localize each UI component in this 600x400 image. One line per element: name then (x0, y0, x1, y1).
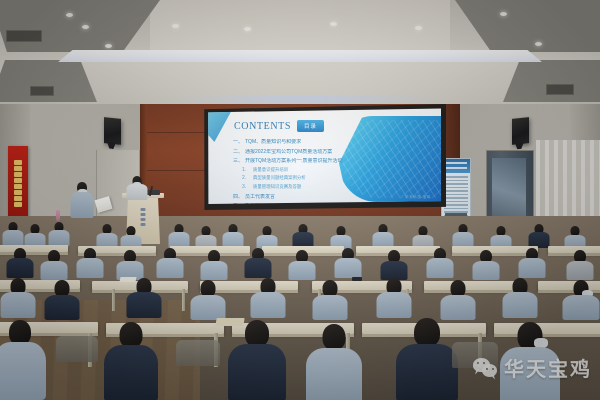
slide-item-number: 2. (242, 175, 249, 181)
audience-member (0, 278, 36, 318)
audience-member (44, 280, 80, 320)
audience-member (244, 248, 272, 278)
head (323, 324, 346, 350)
slide-item-number: 1. (242, 167, 249, 173)
ceiling-light (82, 25, 89, 29)
ceiling-light (500, 12, 507, 16)
ceiling-light (535, 42, 542, 46)
banner-characters (8, 146, 28, 220)
slide-item-number: 三、 (233, 157, 241, 164)
lectern-front-text (141, 208, 146, 226)
torso (396, 344, 458, 400)
audience-member (334, 248, 362, 278)
slide-item-number: 二、 (233, 148, 241, 155)
audience-member (518, 248, 546, 278)
torso (503, 292, 538, 318)
audience-member-foreground (396, 318, 458, 400)
presenter-body (71, 192, 94, 218)
audience-member (200, 250, 228, 280)
slide-item: 二、 通报2022年宝鸡公司TQM质量活动方案 (233, 148, 357, 155)
head (414, 318, 440, 347)
audience-member-foreground (104, 322, 158, 400)
audience-member (566, 250, 594, 280)
ceiling-panel-left-front (0, 0, 160, 52)
ceiling-light (415, 26, 422, 30)
slide-item-text: 质量意识提升培训 (253, 167, 288, 173)
torso (201, 261, 228, 280)
audience-member (472, 250, 500, 280)
audience-member (48, 222, 70, 246)
slide-item-number: 四、 (233, 193, 241, 200)
audience-member (222, 224, 244, 248)
torso (157, 258, 184, 278)
slide-item-text: 员工代表发言 (245, 194, 275, 200)
wall-speaker-left (104, 117, 121, 145)
ceiling-light (105, 44, 112, 48)
audience-member (190, 280, 226, 320)
ceiling-light (330, 22, 337, 26)
audience-member (6, 248, 34, 278)
torso (3, 230, 24, 246)
poster-header (442, 159, 470, 173)
slide-item-text: 开展TQM活动方案系列一:质量意识提升活动 (245, 158, 343, 164)
torso (1, 292, 36, 318)
audience-member (126, 278, 162, 318)
slide-corner-graphic (207, 108, 233, 142)
presenter-speaking (70, 182, 94, 218)
projection-screen: CONTENTS 目录 一、 TQM、质量知识与和要求 二、 通报2022年宝鸡… (207, 108, 441, 204)
torso (519, 258, 546, 278)
audience-member (40, 250, 68, 280)
torso (45, 295, 80, 320)
audience-member (452, 224, 474, 248)
torso (441, 295, 476, 320)
ceiling (0, 0, 600, 112)
torso (313, 295, 348, 320)
wechat-icon (473, 357, 499, 379)
torso (306, 348, 362, 400)
ceiling-light (172, 24, 179, 28)
torso (41, 261, 68, 280)
slide-outline-list: 一、 TQM、质量知识与和要求 二、 通报2022年宝鸡公司TQM质量活动方案 … (233, 138, 357, 204)
slide-item: 一、 TQM、质量知识与和要求 (233, 138, 357, 145)
audience-member (528, 224, 550, 248)
torso (473, 261, 500, 280)
ceiling-light (66, 13, 73, 17)
slide-contents-badge: 目录 (297, 120, 324, 132)
red-wall-banner (8, 146, 28, 220)
audience-member (288, 250, 316, 280)
torso (245, 258, 272, 278)
ceiling-vent-left (6, 30, 42, 42)
slide-item-number: 3. (242, 184, 249, 190)
slide-item-text: TQM、质量知识与和要求 (245, 139, 301, 145)
table-leg (112, 289, 115, 311)
audience-member (562, 280, 600, 320)
audience-member (250, 278, 286, 318)
table-leg (182, 289, 185, 311)
audience-member (380, 250, 408, 280)
water-bottle (56, 210, 60, 221)
torso (335, 258, 362, 278)
slide-item-text: 质量管理知识竞赛及答题 (253, 184, 301, 190)
audience-member (96, 224, 118, 248)
torso (7, 258, 34, 278)
wall-speaker-right (512, 117, 529, 145)
torso (0, 342, 46, 400)
watermark-text: 华天宝鸡 (504, 353, 592, 382)
audience-member (372, 224, 394, 248)
slide-contents-label: CONTENTS (234, 121, 291, 132)
audience-member-foreground (228, 320, 286, 400)
chair (56, 336, 98, 362)
conference-photo: CONTENTS 目录 一、 TQM、质量知识与和要求 二、 通报2022年宝鸡… (0, 0, 600, 400)
slide-item: 三、 开展TQM活动方案系列一:质量意识提升活动 (233, 157, 357, 164)
smartphone (352, 277, 362, 281)
torso (191, 295, 226, 320)
audience-member (376, 278, 412, 318)
torso (567, 261, 594, 280)
ceiling-vent-left-2 (30, 86, 54, 96)
presenter-at-lectern (126, 176, 148, 200)
audience-member-foreground (306, 324, 362, 400)
torso (427, 258, 454, 278)
presenter-body (127, 184, 148, 200)
audience-member (502, 278, 538, 318)
head (245, 320, 269, 347)
ceiling-light (244, 27, 251, 31)
audience-member (116, 250, 144, 280)
slide-item-text: 通报2022年宝鸡公司TQM质量活动方案 (245, 149, 332, 155)
audience-member (2, 222, 24, 246)
torso (77, 258, 104, 278)
torso (289, 261, 316, 280)
slide-subitem: 1. 质量意识提升培训 (242, 167, 357, 173)
audience-member (312, 280, 348, 320)
audience-member (426, 248, 454, 278)
torso (228, 344, 286, 400)
slide-subitem: 2. 典型质量问题经典案例分析 (242, 175, 357, 181)
slide-header: CONTENTS 目录 (234, 120, 324, 132)
torso (563, 295, 600, 320)
audience-member (292, 224, 314, 248)
ceiling-light-strip (58, 50, 542, 62)
audience-member (76, 248, 104, 278)
torso (104, 345, 158, 400)
ceiling-vent-right (546, 84, 574, 95)
torso (251, 292, 286, 318)
audience-member-foreground (0, 320, 46, 400)
torso (377, 292, 412, 318)
ceiling-panel-right-front (455, 0, 600, 52)
chair (176, 340, 220, 366)
audience-member (440, 280, 476, 320)
audience-member (156, 248, 184, 278)
torso (49, 230, 70, 246)
watermark: 华天宝鸡 (473, 353, 592, 382)
slide-item: 四、 员工代表发言 (233, 193, 357, 200)
audience-member (168, 224, 190, 248)
slide-item-number: 一、 (233, 138, 241, 145)
slide-subitem: 3. 质量管理知识竞赛及答题 (242, 184, 357, 190)
slide-footer: 华天科技 宝鸡 (405, 195, 431, 200)
torso (127, 292, 162, 318)
slide-item-text: 典型质量问题经典案例分析 (253, 175, 306, 181)
